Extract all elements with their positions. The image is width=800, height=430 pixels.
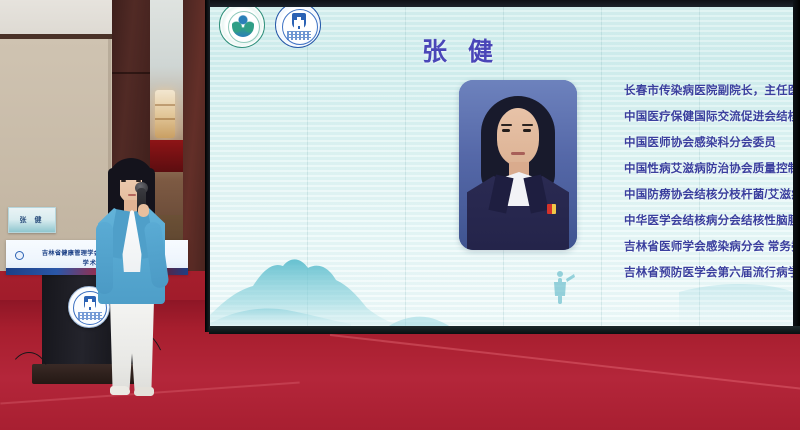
desk-nameplate: 张 健 [8, 207, 56, 233]
portrait-brow [501, 124, 512, 126]
screen-bottom-bezel [209, 326, 800, 334]
slide-logos [219, 2, 321, 48]
logo-green-mark [232, 15, 254, 37]
slide-speaker-name: 张 健 [422, 32, 500, 68]
portrait-mouth [511, 152, 525, 155]
portrait-eye [523, 129, 531, 132]
infectious-disease-hospital-logo [275, 2, 321, 48]
bio-line: 中国医疗保健国际交流促进会结核病防治分会委员 [624, 104, 800, 130]
presenter-shoe [110, 386, 130, 395]
bio-line: 吉林省预防医学会第六届流行病学专业委员会副主任委员 [624, 260, 800, 286]
presenter-arm [96, 222, 113, 294]
bio-line: 中国防痨协会结核分枝杆菌/艾滋病双重感染专业分会委员 [624, 182, 800, 208]
speaker-portrait-photo [459, 80, 577, 250]
bio-line: 长春市传染病医院副院长，主任医师，医学博士 [624, 78, 800, 104]
screen-right-bezel [793, 0, 800, 332]
presenter [82, 154, 178, 400]
logo-shield-icon [292, 13, 306, 29]
led-presentation-screen[interactable]: 张 健 长春市传染病医院副院长，主任医师，医学博士 中国医疗保健国际交流促进会结… [209, 0, 800, 332]
bio-line: 中国性病艾滋病防治协会质量控制管理专业委员会副主任委员 [624, 156, 800, 182]
speaker-bio-list: 长春市传染病医院副院长，主任医师，医学博士 中国医疗保健国际交流促进会结核病防治… [624, 78, 800, 286]
presenter-mouth [128, 194, 136, 196]
screen-left-bezel [205, 0, 210, 332]
bio-line: 中华医学会结核病分会结核性脑膜炎专业委员会常务委员 [624, 208, 800, 234]
logo-text-bars [287, 31, 311, 40]
conference-photo-scene: 张 健 长春市传染病医院副院长，主任医师，医学博士 中国医疗保健国际交流促进会结… [0, 0, 800, 430]
presenter-trousers [110, 300, 154, 392]
portrait-eye [502, 129, 510, 132]
portrait-brow [522, 124, 533, 126]
column-seam [112, 72, 150, 74]
portrait-face [497, 108, 539, 166]
portrait-flag-pin [547, 204, 556, 214]
health-management-association-logo [219, 2, 265, 48]
presenter-shoe [134, 387, 154, 396]
desk-nameplate-text: 张 健 [20, 215, 45, 225]
presenter-eye [121, 180, 126, 182]
screen-top-bezel [209, 0, 800, 7]
bio-line: 吉林省医师学会感染病分会 常务委员 [624, 234, 800, 260]
bio-line: 中国医师协会感染科分会委员 [624, 130, 800, 156]
presenter-hand [138, 204, 149, 217]
alcove-lamp-band [155, 118, 175, 120]
alcove-lamp [155, 90, 175, 138]
alcove-lamp-band [155, 104, 175, 106]
